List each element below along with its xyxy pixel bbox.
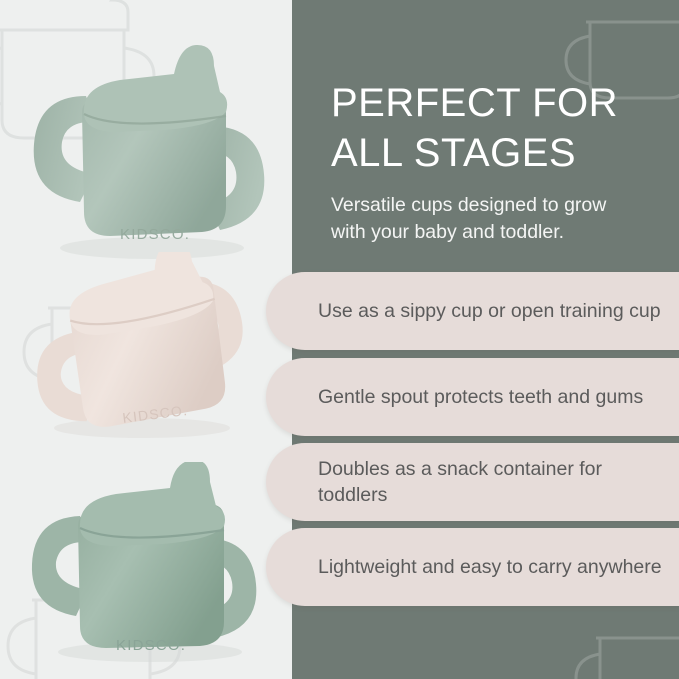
feature-pill-label: Doubles as a snack container for toddler… — [318, 456, 665, 508]
page-subtitle: Versatile cups designed to grow with you… — [331, 192, 631, 247]
product-cup-blush: KIDSCO. — [14, 252, 266, 438]
cup-brand-emboss: KIDSCO. — [120, 226, 190, 243]
feature-pill-label: Use as a sippy cup or open training cup — [318, 298, 661, 324]
feature-pill: Doubles as a snack container for toddler… — [266, 443, 679, 521]
product-image-panel: KIDSCO. KIDSCO. — [0, 0, 292, 679]
cup-brand-emboss: KIDSCO. — [116, 637, 186, 654]
feature-pill-label: Lightweight and easy to carry anywhere — [318, 554, 662, 580]
product-cup-sage-dark: KIDSCO. — [22, 462, 274, 662]
product-infographic: KIDSCO. KIDSCO. — [0, 0, 679, 679]
product-cup-sage-light: KIDSCO. — [24, 34, 276, 260]
feature-pill: Lightweight and easy to carry anywhere — [266, 528, 679, 606]
feature-pill: Use as a sippy cup or open training cup — [266, 272, 679, 350]
page-title: PERFECT FOR ALL STAGES — [331, 78, 661, 178]
feature-pill: Gentle spout protects teeth and gums — [266, 358, 679, 436]
feature-pill-label: Gentle spout protects teeth and gums — [318, 384, 643, 410]
